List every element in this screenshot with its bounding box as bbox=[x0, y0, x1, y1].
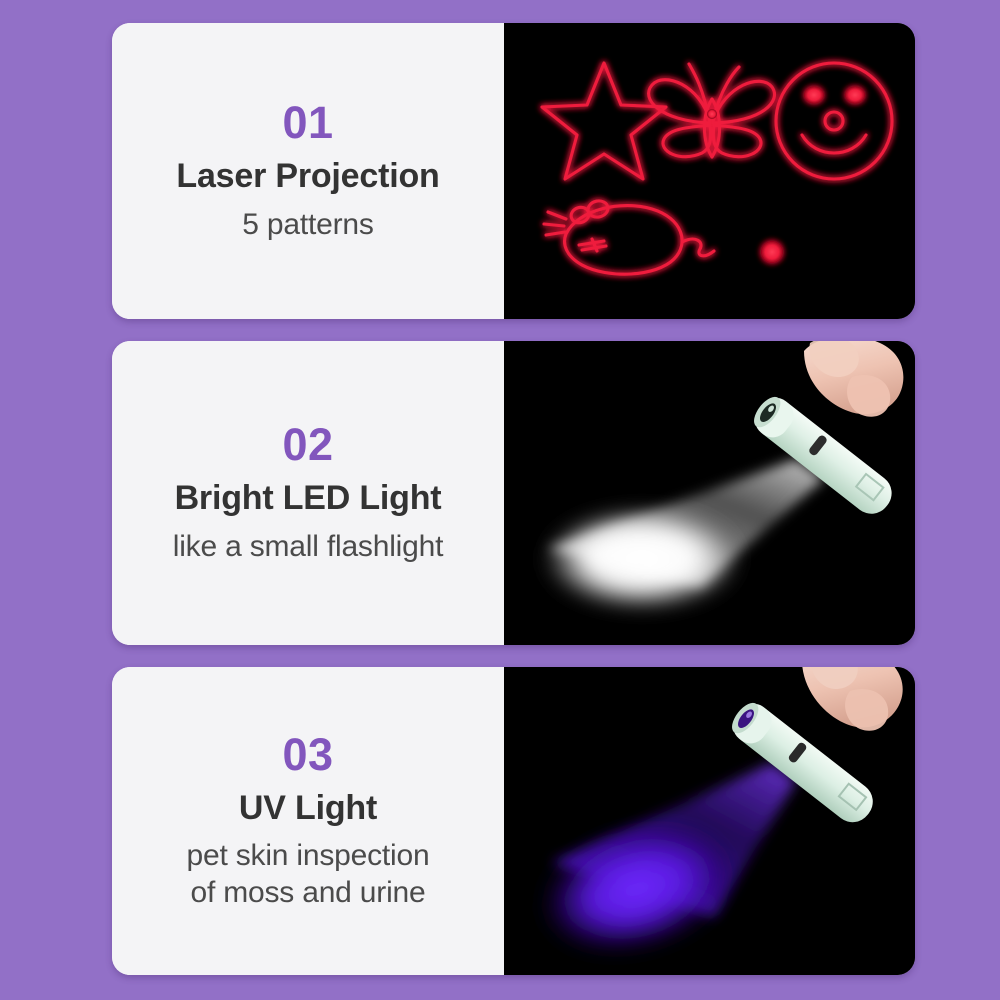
led-beam-illustration bbox=[504, 341, 915, 645]
feature-subtitle-line-2: of moss and urine bbox=[186, 875, 429, 912]
feature-subtitle: like a small flashlight bbox=[173, 529, 444, 566]
uv-beam-media bbox=[504, 667, 915, 975]
feature-number: 03 bbox=[282, 731, 333, 780]
feature-subtitle: 5 patterns bbox=[242, 207, 373, 244]
feature-subtitle-line-1: pet skin inspection bbox=[186, 838, 429, 875]
feature-text-panel: 03 UV Light pet skin inspection of moss … bbox=[112, 667, 504, 975]
feature-card-uv-light: 03 UV Light pet skin inspection of moss … bbox=[112, 667, 915, 975]
led-light-pool bbox=[538, 505, 746, 613]
feature-text-panel: 01 Laser Projection 5 patterns bbox=[112, 23, 504, 319]
laser-pattern-dot bbox=[761, 241, 783, 263]
feature-infographic: 01 Laser Projection 5 patterns bbox=[0, 0, 1000, 1000]
feature-card-led-light: 02 Bright LED Light like a small flashli… bbox=[112, 341, 915, 645]
feature-card-laser-projection: 01 Laser Projection 5 patterns bbox=[112, 23, 915, 319]
feature-number: 01 bbox=[282, 99, 333, 148]
feature-title: UV Light bbox=[239, 788, 377, 828]
led-beam-media bbox=[504, 341, 915, 645]
laser-smiley-eye-right bbox=[845, 87, 865, 104]
uv-beam-illustration bbox=[504, 667, 915, 975]
feature-text-panel: 02 Bright LED Light like a small flashli… bbox=[112, 341, 504, 645]
feature-title: Laser Projection bbox=[176, 156, 439, 196]
laser-patterns-media bbox=[504, 23, 915, 319]
feature-number: 02 bbox=[282, 421, 333, 470]
feature-subtitle: pet skin inspection of moss and urine bbox=[186, 838, 429, 911]
laser-butterfly-body-dot bbox=[707, 109, 717, 119]
laser-smiley-eye-left bbox=[804, 87, 824, 104]
feature-title: Bright LED Light bbox=[175, 478, 442, 518]
laser-patterns-illustration bbox=[504, 23, 915, 319]
